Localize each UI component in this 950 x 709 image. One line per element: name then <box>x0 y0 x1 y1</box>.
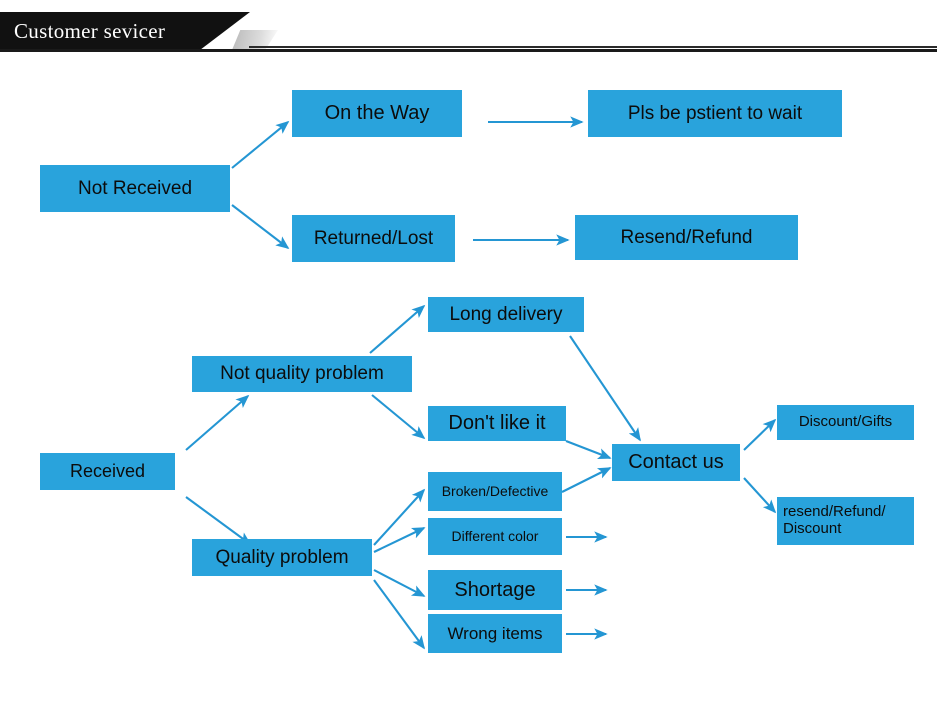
flow-node-not_received[interactable]: Not Received <box>40 165 230 212</box>
flow-arrow-not_received-to-on_the_way <box>232 122 288 168</box>
flow-node-returned_lost[interactable]: Returned/Lost <box>292 215 455 262</box>
flow-node-wrong_items[interactable]: Wrong items <box>428 614 562 653</box>
flow-arrow-received-to-not_quality <box>186 396 248 450</box>
flow-node-long_delivery[interactable]: Long delivery <box>428 297 584 332</box>
flow-arrow-not_quality-to-long_delivery <box>370 306 424 353</box>
flow-arrow-quality_problem-to-shortage <box>374 570 424 596</box>
flow-arrow-quality_problem-to-wrong_items <box>374 580 424 648</box>
flow-arrow-not_received-to-returned_lost <box>232 205 288 248</box>
flow-arrow-dont_like_it-to-contact_us <box>566 441 610 458</box>
header-divider-thin <box>249 46 937 48</box>
page-title: Customer sevicer <box>14 19 165 44</box>
flowchart-page: Customer sevicer Not ReceivedOn the WayP… <box>0 0 950 709</box>
flow-node-not_quality[interactable]: Not quality problem <box>192 356 412 392</box>
flow-node-dont_like_it[interactable]: Don't like it <box>428 406 566 441</box>
flow-node-pls_wait[interactable]: Pls be pstient to wait <box>588 90 842 137</box>
flow-node-contact_us[interactable]: Contact us <box>612 444 740 481</box>
flow-arrow-quality_problem-to-broken_defective <box>374 490 424 545</box>
flow-node-quality_problem[interactable]: Quality problem <box>192 539 372 576</box>
flow-node-resend_refund[interactable]: Resend/Refund <box>575 215 798 260</box>
flow-arrow-not_quality-to-dont_like_it <box>372 395 424 438</box>
header-divider <box>0 49 937 52</box>
flow-arrow-broken_defective-to-contact_us <box>562 468 610 492</box>
flow-node-broken_defective[interactable]: Broken/Defective <box>428 472 562 511</box>
flow-arrow-contact_us-to-discount_gifts <box>744 420 775 450</box>
flow-node-received[interactable]: Received <box>40 453 175 490</box>
flow-node-shortage[interactable]: Shortage <box>428 570 562 610</box>
flow-node-on_the_way[interactable]: On the Way <box>292 90 462 137</box>
flow-node-resend_refund_discount[interactable]: resend/Refund/ Discount <box>777 497 914 545</box>
flow-node-different_color[interactable]: Different color <box>428 518 562 555</box>
flow-arrow-long_delivery-to-contact_us <box>570 336 640 440</box>
flow-arrow-contact_us-to-resend_refund_discount <box>744 478 775 512</box>
flow-arrow-received-to-quality_problem <box>186 497 250 544</box>
flow-node-discount_gifts[interactable]: Discount/Gifts <box>777 405 914 440</box>
flow-arrow-quality_problem-to-different_color <box>374 528 424 552</box>
